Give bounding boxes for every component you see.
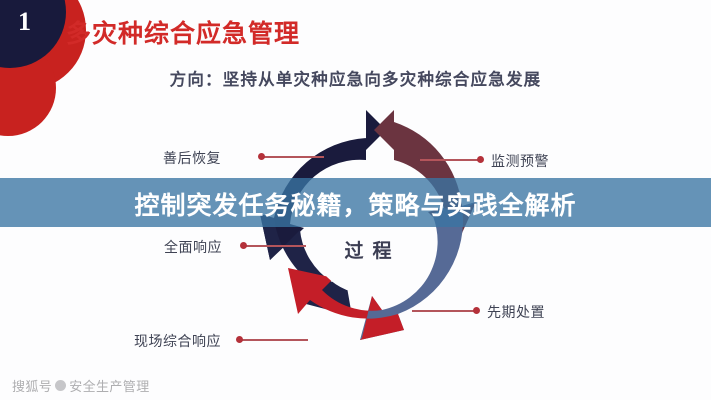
direction-statement: 方向：坚持从单灾种应急向多灾种综合应急发展 <box>0 66 711 90</box>
leader-line-initial <box>412 310 476 312</box>
slide-number-badge: 1 <box>18 9 31 35</box>
leader-dot-monitoring <box>477 156 484 163</box>
leader-dot-initial <box>473 307 480 314</box>
footer-account: 安全生产管理 <box>69 376 149 395</box>
slide-image: 1 多灾种综合应急管理 方向：坚持从单灾种应急向多灾种综合应急发展 过程 善后恢… <box>0 0 711 400</box>
cycle-center-label: 过程 <box>248 236 488 263</box>
avatar-icon <box>55 380 66 391</box>
slide-headline: 多灾种综合应急管理 <box>66 14 300 50</box>
leader-dot-onsite <box>236 336 243 343</box>
node-label-full-response: 全面响应 <box>164 237 222 257</box>
node-label-recovery: 善后恢复 <box>163 148 221 168</box>
overlay-title: 控制突发任务秘籍，策略与实践全解析 <box>0 186 711 222</box>
footer-watermark: 搜狐号 安全生产管理 <box>12 376 150 395</box>
footer-source: 搜狐号 <box>12 376 52 395</box>
leader-line-full-response <box>244 245 306 247</box>
leader-dot-full-response <box>240 242 247 249</box>
leader-dot-recovery <box>258 153 265 160</box>
node-label-onsite: 现场综合响应 <box>134 331 221 351</box>
leader-line-onsite <box>240 339 308 341</box>
leader-line-monitoring <box>420 159 480 161</box>
node-label-monitoring: 监测预警 <box>491 151 549 171</box>
node-label-initial: 先期处置 <box>487 302 545 322</box>
leader-line-recovery <box>262 156 324 158</box>
